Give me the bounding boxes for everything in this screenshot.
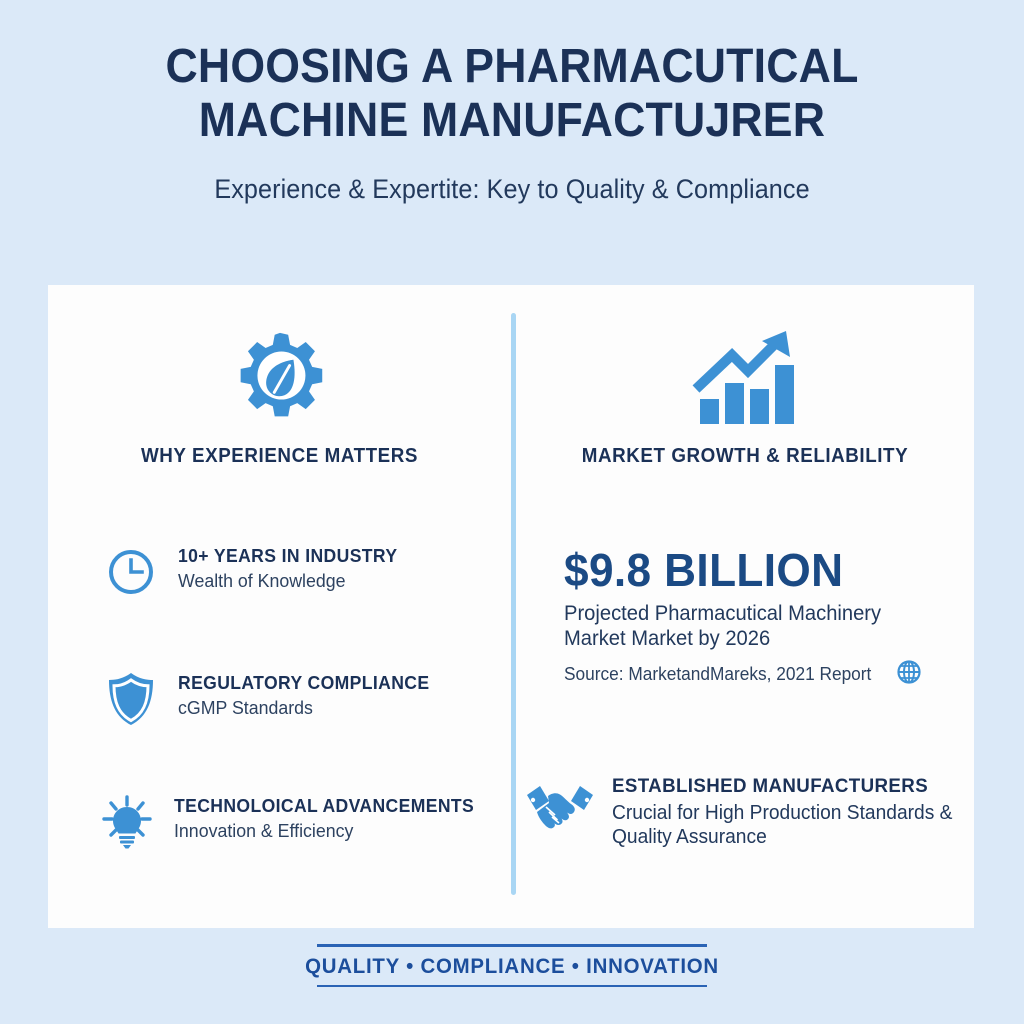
feature-subtitle: Wealth of Knowledge: [178, 570, 400, 592]
right-column-heading: MARKET GROWTH & RELIABILITY: [530, 445, 961, 468]
growth-chart-icon: [516, 323, 974, 431]
left-column: WHY EXPERIENCE MATTERS 10+ YEARS IN INDU…: [48, 285, 511, 928]
handshake-icon: [524, 775, 596, 835]
shield-icon: [102, 670, 160, 728]
stat-source: Source: MarketandMareks, 2021 Report: [564, 664, 871, 685]
left-column-heading: WHY EXPERIENCE MATTERS: [62, 445, 497, 468]
manufacturers-subtitle: Crucial for High Production Standards & …: [612, 801, 960, 849]
feature-item-experience: 10+ YEARS IN INDUSTRY Wealth of Knowledg…: [102, 543, 409, 601]
footer-tagline: QUALITY • COMPLIANCE • INNOVATION: [26, 947, 999, 985]
feature-title: REGULATORY COMPLIANCE: [178, 672, 429, 694]
page-title: CHOOSING A PHARMACUTICAL MACHINE MANUFAC…: [36, 40, 988, 148]
feature-item-technology: TECHNOLOICAL ADVANCEMENTS Innovation & E…: [98, 793, 490, 851]
footer-rule-bottom: [317, 985, 707, 988]
page-header: CHOOSING A PHARMACUTICAL MACHINE MANUFAC…: [0, 0, 1024, 285]
page-footer: QUALITY • COMPLIANCE • INNOVATION: [0, 944, 1024, 987]
established-manufacturers-item: ESTABLISHED MANUFACTURERS Crucial for Hi…: [524, 775, 974, 849]
globe-icon: [896, 659, 922, 690]
feature-item-compliance: REGULATORY COMPLIANCE cGMP Standards: [102, 670, 443, 728]
feature-subtitle: cGMP Standards: [178, 697, 432, 719]
clock-icon: [102, 543, 160, 601]
feature-title: TECHNOLOICAL ADVANCEMENTS: [174, 795, 474, 817]
stat-source-row: Source: MarketandMareks, 2021 Report: [564, 659, 964, 690]
feature-title: 10+ YEARS IN INDUSTRY: [178, 545, 397, 567]
stat-value: $9.8 BILLION: [564, 547, 948, 593]
right-column: MARKET GROWTH & RELIABILITY $9.8 BILLION…: [516, 285, 974, 928]
lightbulb-icon: [98, 793, 156, 851]
stat-description: Projected Pharmacutical Machinery Market…: [564, 602, 948, 652]
manufacturers-title: ESTABLISHED MANUFACTURERS: [612, 775, 960, 798]
feature-subtitle: Innovation & Efficiency: [174, 820, 477, 842]
page-subtitle: Experience & Expertite: Key to Quality &…: [26, 174, 999, 205]
market-stat-block: $9.8 BILLION Projected Pharmacutical Mac…: [564, 547, 964, 690]
gear-leaf-icon: [48, 323, 511, 431]
content-card: WHY EXPERIENCE MATTERS 10+ YEARS IN INDU…: [48, 285, 974, 928]
